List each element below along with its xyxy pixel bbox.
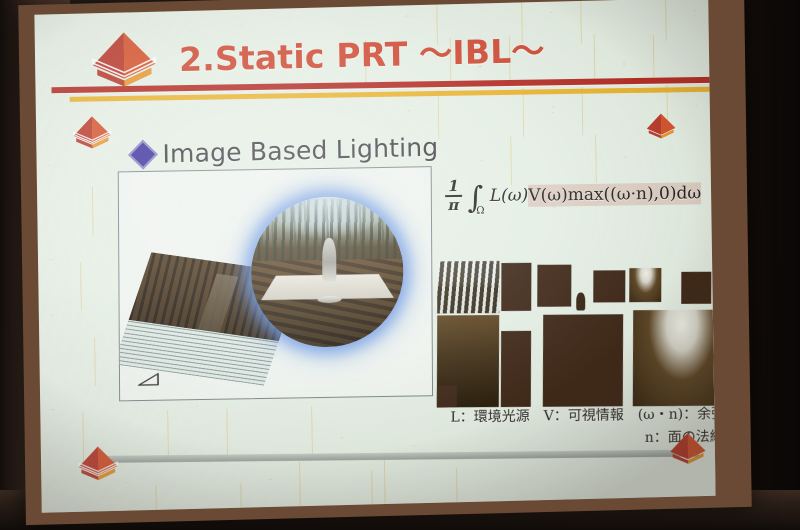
ibl-rendering-equation: 1 π ∫Ω L(ω)V(ω)max((ω·n),0)dω	[445, 175, 701, 216]
diamond-bullet-icon	[128, 140, 158, 170]
fraction-numerator: 1	[445, 179, 462, 194]
sphere-statue-model	[322, 237, 336, 281]
thumbnail-image	[437, 261, 499, 313]
thumbnail-image	[593, 270, 625, 302]
environment-map-sphere-render	[251, 196, 404, 349]
hexagon-shape	[155, 460, 242, 513]
sphere-environment	[251, 196, 404, 349]
hexagon-shape	[34, 313, 96, 411]
thumbnail-image	[681, 272, 711, 304]
presentation-slide: 2.Static PRT 〜IBL〜	[34, 0, 715, 513]
pyramid-logo-icon	[75, 443, 122, 484]
formula-legend-line-1: L：環境光源 V：可視情報 (ω・n)：余弦項	[450, 403, 715, 427]
projection-screen: 2.Static PRT 〜IBL〜	[18, 0, 751, 525]
pyramid-logo-icon	[70, 113, 115, 152]
fraction-denominator: π	[445, 197, 462, 212]
formula-body-left: L(ω)	[490, 185, 529, 206]
thumbnail-image	[501, 331, 531, 407]
pyramid-logo-icon	[667, 430, 710, 467]
page-title: 2.Static PRT 〜IBL〜	[179, 24, 545, 81]
integral-subscript: Ω	[476, 205, 484, 216]
ibl-illustration-panel	[118, 166, 433, 401]
pyramid-logo-icon	[87, 28, 162, 92]
figurine-silhouette-icon	[576, 293, 585, 311]
hexagon-shape	[34, 163, 94, 261]
camera-viewpoint-icon	[138, 372, 160, 388]
formula-fraction: 1 π	[445, 179, 462, 213]
thumbnail-image	[537, 265, 571, 307]
thumbnail-image	[437, 385, 457, 407]
thumbnail-image	[629, 268, 661, 302]
thumbnail-image	[543, 314, 623, 407]
projector-room-photo: 2.Static PRT 〜IBL〜	[0, 0, 800, 530]
render-thumbnail-strip	[443, 255, 716, 405]
thumbnail-image	[633, 310, 716, 407]
thumbnail-image	[501, 263, 531, 311]
pyramid-logo-icon	[644, 111, 678, 142]
formula-body-highlight: V(ω)max((ω·n),0)dω	[528, 182, 701, 207]
